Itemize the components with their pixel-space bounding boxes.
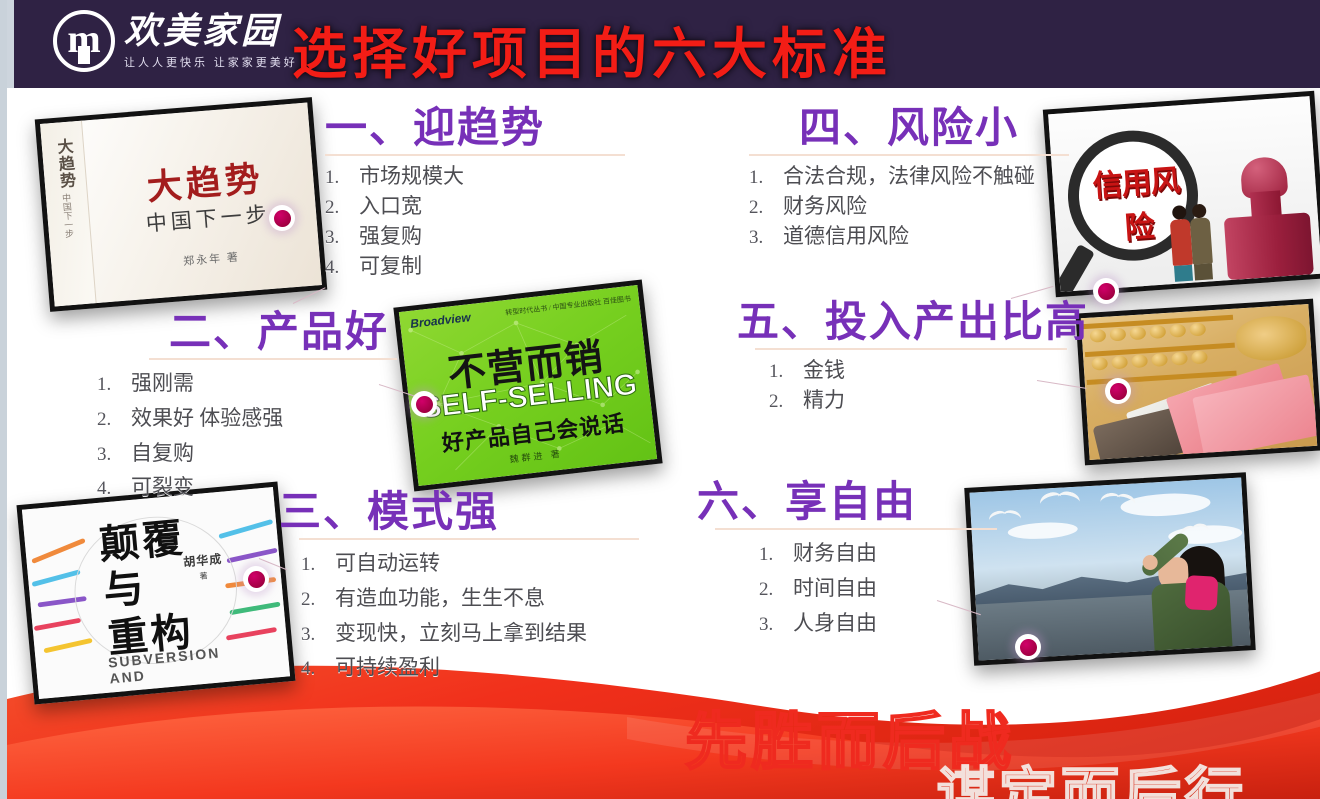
section-two-heading: 二、产品好 — [97, 310, 397, 357]
photo4-figurines — [1169, 200, 1230, 282]
list-item: 1.财务自由 — [759, 536, 997, 571]
marker-dot-6 — [1015, 634, 1041, 660]
section-one-heading: 一、迎趋势 — [325, 106, 625, 153]
logo-circle-icon: m — [53, 10, 115, 72]
list-item: 1.市场规模大 — [325, 162, 625, 192]
seagull-icon — [1100, 492, 1138, 508]
list-item: 2.有造血功能，生生不息 — [301, 581, 639, 616]
book1-author: 郑永年 著 — [111, 243, 312, 275]
abacus-bead — [1189, 322, 1206, 336]
photo-credit-risk: 信用风险 — [1043, 91, 1320, 298]
list-number: 3. — [759, 610, 793, 641]
section-one: 一、迎趋势 1.市场规模大 2.入口宽 3.强复购 4.可复制 — [325, 106, 625, 282]
figurine-legs — [1194, 263, 1213, 280]
list-number: 3. — [301, 620, 335, 651]
list-item: 4.可复制 — [325, 252, 625, 282]
book1-spine: 大趋势 中国下一步 — [40, 121, 97, 307]
section-four-rule — [749, 154, 1069, 156]
abacus-bead — [1090, 329, 1107, 343]
section-six-rule — [715, 528, 997, 530]
list-item: 2.精力 — [769, 386, 1067, 416]
abacus-bead — [1131, 354, 1148, 368]
list-text: 道德信用风险 — [783, 222, 909, 252]
list-text: 变现快，立刻马上拿到结果 — [335, 616, 587, 650]
list-item: 4.可持续盈利 — [301, 650, 639, 685]
list-text: 可复制 — [359, 252, 422, 282]
stamp-base — [1224, 212, 1314, 280]
section-one-list: 1.市场规模大 2.入口宽 3.强复购 4.可复制 — [325, 162, 625, 282]
photo6-inner — [970, 478, 1251, 661]
list-text: 精力 — [803, 386, 845, 416]
list-text: 效果好 体验感强 — [131, 401, 283, 435]
list-item: 2.时间自由 — [759, 571, 997, 606]
book1-spine-sub: 中国下一步 — [60, 193, 77, 239]
list-number: 2. — [769, 389, 803, 416]
logo-stem-shape — [78, 46, 90, 64]
book-cover-dian-fu-yu-chong-gou: 颠覆 与 重构 胡华成 著 SUBVERSION AND — [16, 482, 295, 705]
section-five: 五、投入产出比高 1.金钱 2.精力 — [737, 300, 1067, 416]
section-three-heading: 三、模式强 — [279, 490, 639, 537]
book2-inner: Broadview 转型时代丛书 / 中国专业出版社 百佳图书 不营而销 SEL… — [399, 285, 657, 486]
list-number: 3. — [749, 225, 783, 252]
list-number: 3. — [97, 440, 131, 471]
list-text: 合法合规，法律风险不触碰 — [783, 162, 1035, 192]
book3-author-name: 胡华成 — [183, 552, 223, 569]
list-item: 3.强复购 — [325, 222, 625, 252]
section-three-rule — [299, 538, 639, 540]
section-three: 三、模式强 1.可自动运转 2.有造血功能，生生不息 3.变现快，立刻马上拿到结… — [279, 490, 639, 685]
marker-dot-4 — [1093, 278, 1119, 304]
page-title: 选择好项目的六大标准 — [292, 9, 892, 89]
list-item: 3.变现快，立刻马上拿到结果 — [301, 616, 639, 651]
section-four: 四、风险小 1.合法合规，法律风险不触碰 2.财务风险 3.道德信用风险 — [749, 106, 1069, 252]
list-item: 1.强刚需 — [97, 366, 397, 401]
figurine-body — [1190, 217, 1213, 264]
section-one-rule — [325, 154, 625, 156]
list-number: 4. — [301, 654, 335, 685]
list-number: 1. — [97, 370, 131, 401]
book-cover-bu-ying-er-xiao: Broadview 转型时代丛书 / 中国专业出版社 百佳图书 不营而销 SEL… — [393, 279, 662, 491]
list-text: 强刚需 — [131, 366, 194, 400]
list-number: 2. — [325, 195, 359, 222]
list-text: 可自动运转 — [335, 546, 440, 580]
section-three-list: 1.可自动运转 2.有造血功能，生生不息 3.变现快，立刻马上拿到结果 4.可持… — [279, 546, 639, 685]
list-text: 财务风险 — [783, 192, 867, 222]
list-number: 2. — [97, 405, 131, 436]
list-number: 4. — [325, 255, 359, 282]
leader-line-4 — [1011, 286, 1054, 299]
gold-coins-shape — [1235, 314, 1308, 362]
list-number: 1. — [325, 165, 359, 192]
abacus-bead — [1169, 324, 1186, 338]
section-two: 二、产品好 1.强刚需 2.效果好 体验感强 3.自复购 4.可裂变 — [97, 310, 397, 505]
section-five-list: 1.金钱 2.精力 — [737, 356, 1067, 416]
logo-name: 欢美家园 — [124, 12, 298, 52]
list-number: 1. — [749, 165, 783, 192]
section-four-heading: 四、风险小 — [749, 106, 1069, 153]
abacus-bead — [1151, 353, 1168, 367]
section-four-list: 1.合法合规，法律风险不触碰 2.财务风险 3.道德信用风险 — [749, 162, 1069, 252]
list-number: 3. — [325, 225, 359, 252]
list-number: 2. — [749, 195, 783, 222]
list-text: 可裂变 — [131, 470, 194, 504]
list-text: 可持续盈利 — [335, 650, 440, 684]
list-number: 2. — [301, 585, 335, 616]
logo-tagline: 让人人更快乐 让家家更美好 — [124, 54, 298, 70]
list-number: 4. — [97, 474, 131, 505]
marker-dot-3 — [243, 566, 269, 592]
list-text: 入口宽 — [359, 192, 422, 222]
figurine-legs — [1174, 265, 1193, 282]
figurine-head — [1172, 205, 1187, 220]
list-number: 1. — [301, 550, 335, 581]
list-text: 时间自由 — [793, 571, 877, 605]
list-item: 2.效果好 体验感强 — [97, 401, 397, 436]
list-number: 1. — [759, 540, 793, 571]
brand-logo: m 欢美家园 让人人更快乐 让家家更美好 — [53, 10, 298, 72]
section-six-heading: 六、享自由 — [697, 480, 997, 527]
section-six-list: 1.财务自由 2.时间自由 3.人身自由 — [697, 536, 997, 640]
list-item: 2.财务风险 — [749, 192, 1069, 222]
abacus-bead — [1149, 325, 1166, 339]
list-text: 财务自由 — [793, 536, 877, 570]
list-item: 3.自复购 — [97, 436, 397, 471]
list-text: 市场规模大 — [359, 162, 464, 192]
list-number: 2. — [759, 575, 793, 606]
woman-figure — [1118, 518, 1233, 652]
slogan-right: 谋定而后行 — [937, 748, 1247, 799]
woman-scarf — [1185, 575, 1219, 611]
logo-text-block: 欢美家园 让人人更快乐 让家家更美好 — [124, 12, 298, 71]
list-item: 1.合法合规，法律风险不触碰 — [749, 162, 1069, 192]
book3-inner: 颠覆 与 重构 胡华成 著 SUBVERSION AND — [22, 487, 290, 699]
list-item: 3.人身自由 — [759, 606, 997, 641]
stamp-shape — [1220, 154, 1314, 280]
section-five-rule — [755, 348, 1067, 350]
abacus-bead — [1111, 355, 1128, 369]
list-number: 1. — [769, 359, 803, 386]
abacus-bead — [1191, 350, 1208, 364]
list-item: 1.金钱 — [769, 356, 1067, 386]
list-item: 1.可自动运转 — [301, 546, 639, 581]
header-left-stripe — [7, 0, 14, 88]
abacus-bead — [1091, 357, 1108, 371]
section-five-heading: 五、投入产出比高 — [737, 300, 1067, 347]
section-six: 六、享自由 1.财务自由 2.时间自由 3.人身自由 — [697, 480, 997, 640]
book1-spine-title: 大趋势 — [50, 137, 78, 190]
marker-dot-1 — [269, 205, 295, 231]
slide-body: 大趋势 中国下一步 大趋势 中国下一步 郑永年 著 一、迎趋势 1.市场规模大 … — [7, 88, 1320, 799]
book3-en-line2: AND — [109, 667, 147, 686]
section-two-list: 1.强刚需 2.效果好 体验感强 3.自复购 4.可裂变 — [97, 366, 397, 505]
abacus-bead — [1129, 326, 1146, 340]
list-text: 金钱 — [803, 356, 845, 386]
seagull-icon — [1039, 491, 1082, 508]
list-item: 2.入口宽 — [325, 192, 625, 222]
list-text: 人身自由 — [793, 606, 877, 640]
photo-freedom — [964, 472, 1255, 665]
woman-hand — [1140, 552, 1161, 573]
section-two-rule — [149, 358, 397, 360]
photo4-inner: 信用风险 — [1048, 96, 1320, 292]
figurine-man — [1189, 203, 1214, 280]
slide-root: m 欢美家园 让人人更快乐 让家家更美好 选择好项目的六大标准 大趋势 中国下一… — [0, 0, 1320, 799]
list-text: 自复购 — [131, 436, 194, 470]
figurine-head — [1192, 204, 1207, 219]
book3-author: 胡华成 著 — [183, 550, 225, 583]
marker-dot-5 — [1105, 378, 1131, 404]
list-text: 强复购 — [359, 222, 422, 252]
abacus-bead — [1109, 328, 1126, 342]
list-item: 3.道德信用风险 — [749, 222, 1069, 252]
abacus-bead — [1171, 352, 1188, 366]
slide-header: m 欢美家园 让人人更快乐 让家家更美好 选择好项目的六大标准 — [7, 0, 1320, 88]
marker-dot-2 — [411, 391, 437, 417]
list-text: 有造血功能，生生不息 — [335, 581, 545, 615]
